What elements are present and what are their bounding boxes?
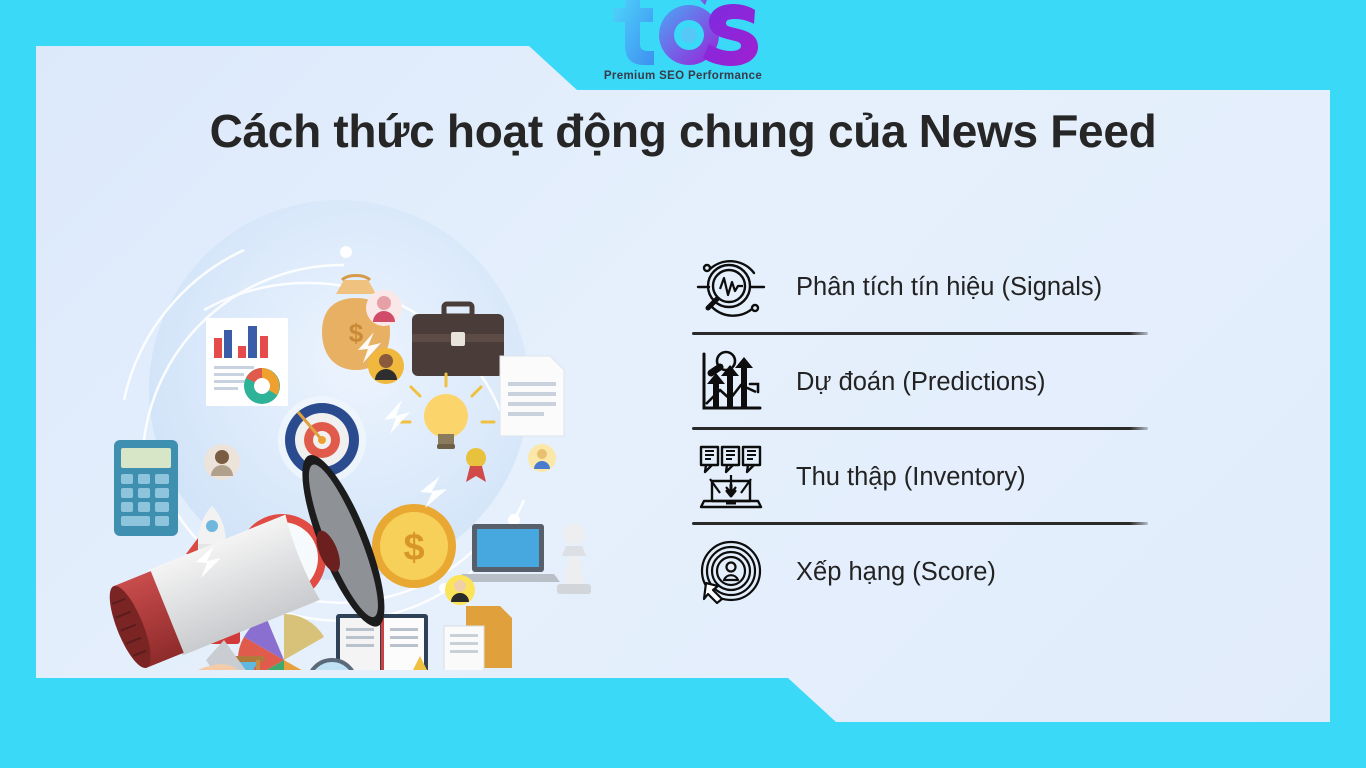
brand-logo: Premium SEO Performance [0, 0, 1366, 82]
brand-tagline: Premium SEO Performance [604, 70, 762, 82]
score-radar-icon [692, 534, 770, 612]
megaphone-illustration: $ [84, 190, 604, 670]
process-list: Phân tích tín hiệu (Signals) [656, 240, 1168, 620]
signal-analysis-icon [692, 249, 770, 327]
list-item-signals[interactable]: Phân tích tín hiệu (Signals) [656, 240, 1168, 335]
list-item-inventory[interactable]: Thu thập (Inventory) [656, 430, 1168, 525]
list-item-label: Dự đoán (Predictions) [796, 368, 1046, 397]
infographic-canvas: Premium SEO Performance Cách thức hoạt đ… [0, 0, 1366, 768]
prediction-chart-icon [692, 344, 770, 422]
page-title: Cách thức hoạt động chung của News Feed [0, 104, 1366, 158]
svg-text:$: $ [349, 318, 364, 348]
list-item-label: Thu thập (Inventory) [796, 463, 1026, 492]
list-item-label: Phân tích tín hiệu (Signals) [796, 273, 1102, 302]
svg-text:$: $ [403, 527, 424, 569]
tos-logo-icon [603, 0, 763, 68]
list-item-score[interactable]: Xếp hạng (Score) [656, 525, 1168, 620]
list-item-label: Xếp hạng (Score) [796, 558, 996, 587]
inventory-laptop-icon [692, 439, 770, 517]
list-item-predictions[interactable]: Dự đoán (Predictions) [656, 335, 1168, 430]
